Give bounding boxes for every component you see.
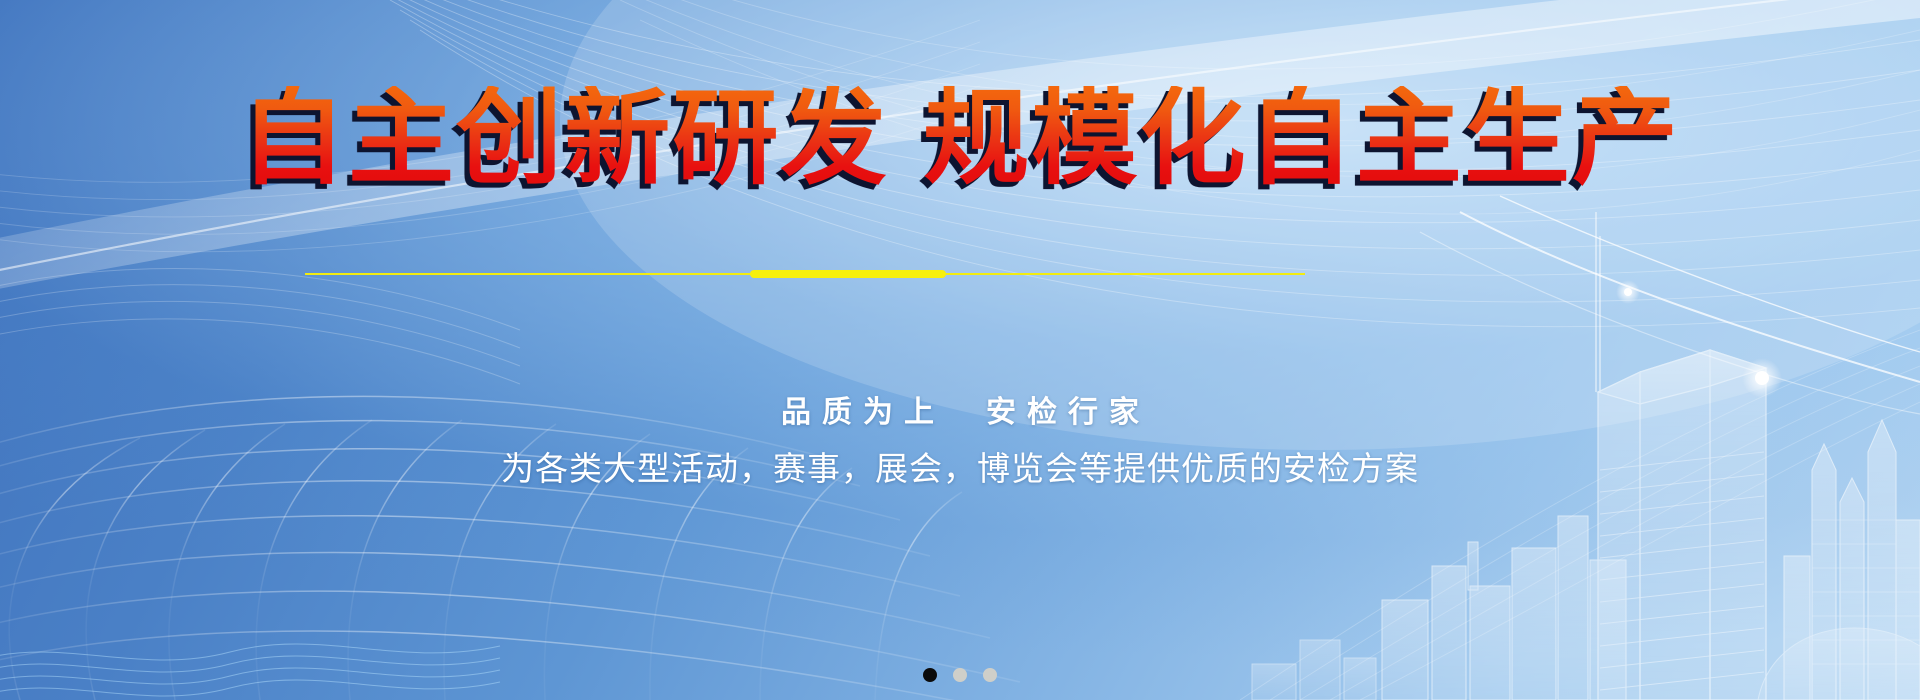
wireframe-dome [0, 396, 1050, 700]
hero-banner-slide[interactable]: 自主创新研发规模化自主生产 品质为上 安检行家 为各类大型活动，赛事，展会，博览… [0, 0, 1920, 700]
light-point-small [1616, 280, 1640, 304]
hero-tagline: 品质为上 安检行家 [0, 393, 1920, 433]
hero-title: 自主创新研发规模化自主生产 [0, 86, 1920, 190]
light-point-large [1742, 358, 1782, 398]
carousel-dot-1[interactable] [923, 668, 937, 682]
hero-description: 为各类大型活动，赛事，展会，博览会等提供优质的安检方案 [0, 446, 1920, 492]
hero-title-part-2: 规模化自主生产 [923, 77, 1680, 199]
hero-title-part-1: 自主创新研发 [240, 77, 889, 199]
carousel-dot-3[interactable] [983, 668, 997, 682]
yellow-divider [305, 273, 1305, 275]
hero-title-text: 自主创新研发规模化自主生产 [240, 86, 1680, 190]
carousel-pagination[interactable] [0, 668, 1920, 682]
yellow-divider-accent [750, 270, 946, 278]
orbit-light-trails [1420, 196, 1920, 414]
carousel-dot-2[interactable] [953, 668, 967, 682]
